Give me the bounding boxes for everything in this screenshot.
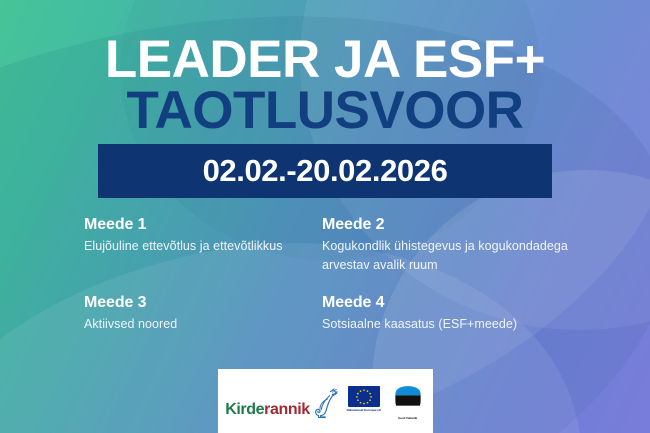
- estonia-logo: Eesti Vabariik: [390, 385, 426, 421]
- heron-bird-icon: [311, 388, 338, 418]
- estonia-flag-icon: [391, 385, 425, 416]
- eu-funding-caption: Rahastanud Euroopa Liit: [346, 409, 382, 413]
- measures-grid: Meede 1 Elujõuline ettevõtlus ja ettevõt…: [84, 216, 584, 333]
- poster-headline: LEADER JA ESF+ TAOTLUSVOOR: [0, 36, 650, 136]
- logo-bar: Kirderannik: [218, 369, 433, 433]
- measure-2-title: Meede 2: [322, 216, 584, 234]
- headline-line-2: TAOTLUSVOOR: [0, 87, 650, 136]
- kirderannik-wordmark: Kirderannik: [225, 402, 310, 418]
- measure-4-title: Meede 4: [322, 294, 584, 312]
- date-banner: 02.02.-20.02.2026: [98, 144, 552, 198]
- measure-4-description: Sotsiaalne kaasatus (ESF+meede): [322, 315, 584, 333]
- measure-1-description: Elujõuline ettevõtlus ja ettevõtlikkus: [84, 237, 322, 255]
- measure-3-title: Meede 3: [84, 294, 322, 312]
- measure-3-description: Aktiivsed noored: [84, 315, 322, 333]
- measures-row-2: Meede 3 Aktiivsed noored Meede 4 Sotsiaa…: [84, 294, 584, 334]
- measure-card-2: Meede 2 Kogukondlik ühistegevus ja koguk…: [322, 216, 584, 274]
- measure-1-title: Meede 1: [84, 216, 322, 234]
- kirderannik-word-part-2: rannik: [264, 401, 310, 418]
- estonia-caption: Eesti Vabariik: [388, 417, 428, 421]
- eu-funding-logo: Rahastanud Euroopa Liit: [347, 386, 381, 420]
- measures-row-1: Meede 1 Elujõuline ettevõtlus ja ettevõt…: [84, 216, 584, 274]
- kirderannik-word-part-1: Kirde: [225, 401, 264, 418]
- measure-card-1: Meede 1 Elujõuline ettevõtlus ja ettevõt…: [84, 216, 322, 274]
- headline-line-1: LEADER JA ESF+: [0, 36, 650, 85]
- date-range-text: 02.02.-20.02.2026: [203, 153, 448, 189]
- measure-2-description: Kogukondlik ühistegevus ja kogukondadega…: [322, 237, 584, 273]
- kirderannik-logo: Kirderannik: [225, 388, 338, 418]
- measure-card-4: Meede 4 Sotsiaalne kaasatus (ESF+meede): [322, 294, 584, 334]
- promo-poster: LEADER JA ESF+ TAOTLUSVOOR 02.02.-20.02.…: [0, 0, 650, 433]
- eu-flag-icon: [348, 386, 380, 407]
- measure-card-3: Meede 3 Aktiivsed noored: [84, 294, 322, 334]
